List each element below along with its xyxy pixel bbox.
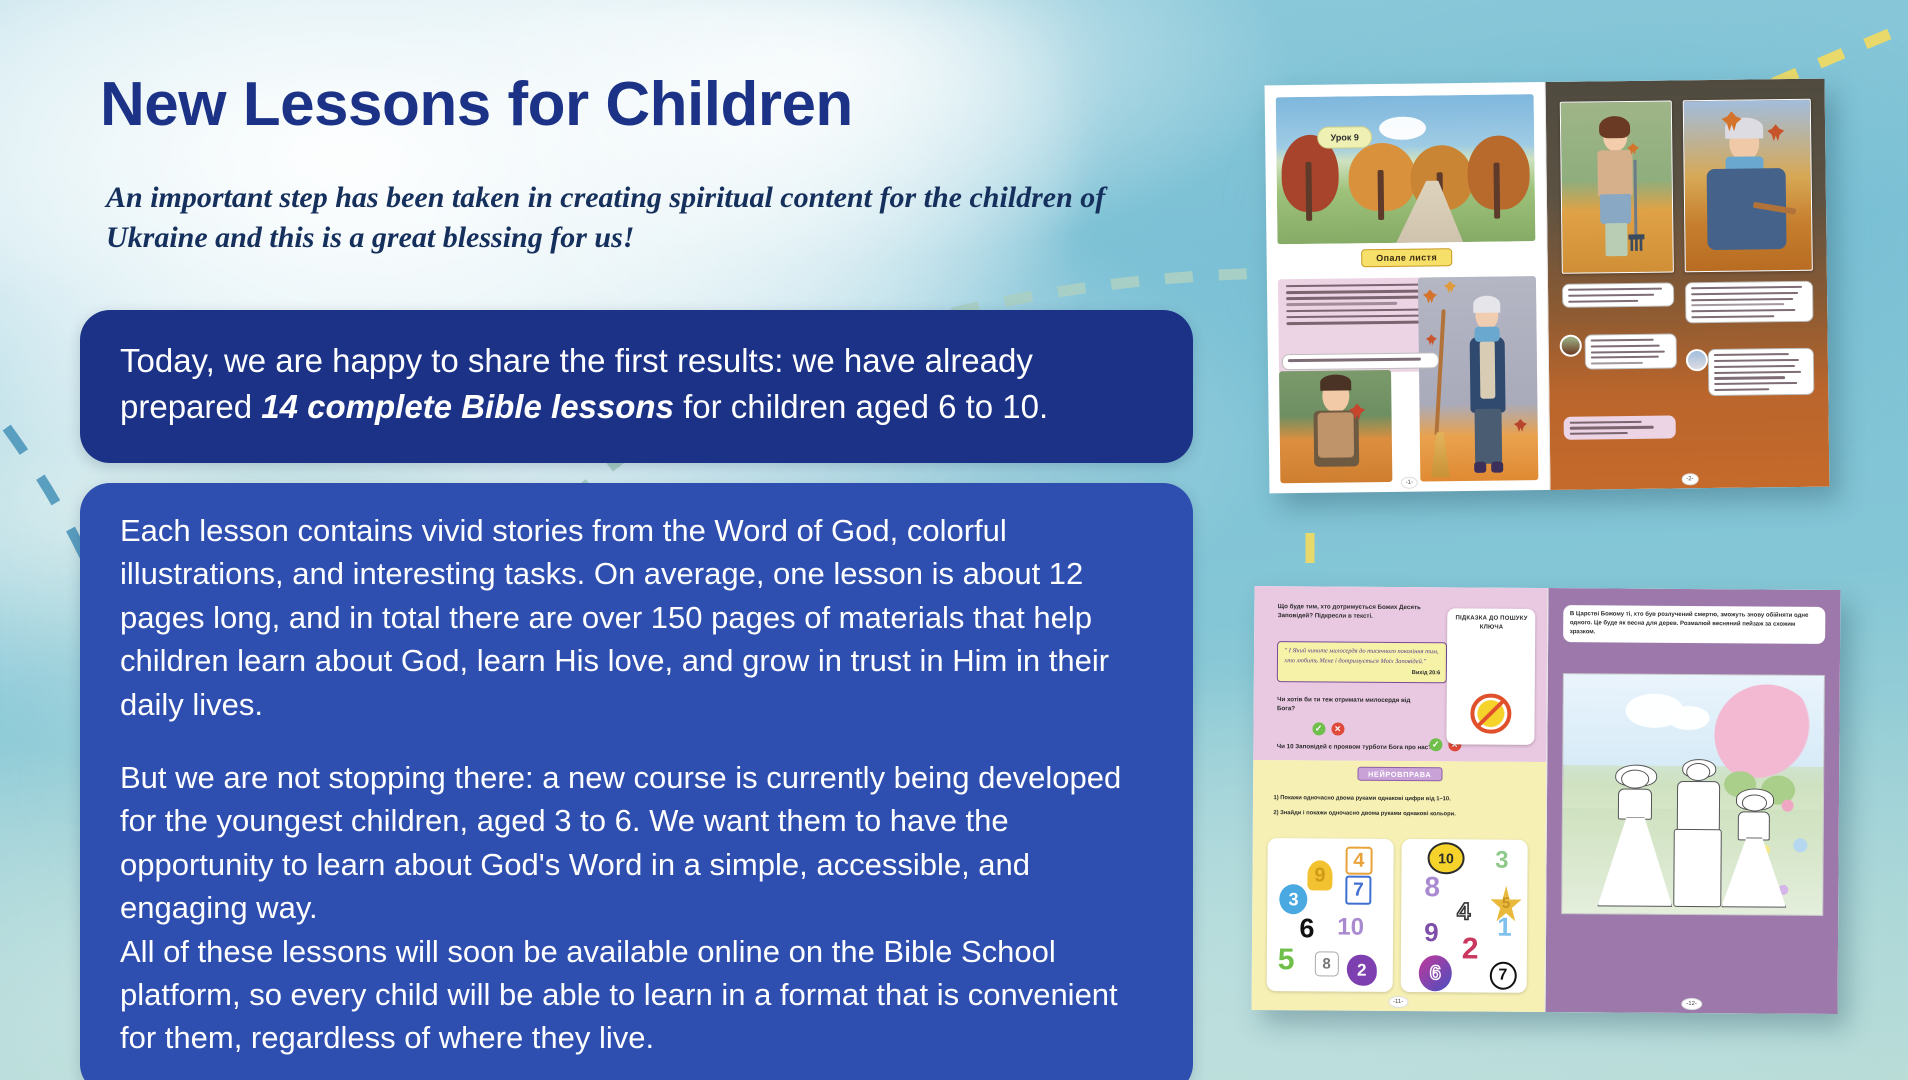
figure-daughter: [1718, 789, 1790, 908]
number-card-right[interactable]: 10385419267: [1401, 839, 1528, 993]
bible-verse-box: " І Який чините милосердя до тисячного п…: [1277, 641, 1447, 683]
spread-top-left-page: Урок 9 Опале листя: [1265, 82, 1550, 493]
number-left-3[interactable]: 3: [1279, 884, 1307, 914]
bible-verse-reference: Вихід 20:6: [1284, 669, 1440, 676]
broom-bristles: [1431, 432, 1450, 477]
number-right-3[interactable]: 3: [1495, 849, 1509, 873]
number-card-left[interactable]: 4973610582: [1266, 838, 1393, 992]
question-mercy: Чи хотів би ти теж отримати милосердя ві…: [1277, 696, 1412, 715]
number-left-8[interactable]: 8: [1314, 952, 1339, 977]
callout-primary-emphasis: 14 complete Bible lessons: [261, 388, 674, 425]
number-left-10[interactable]: 10: [1337, 915, 1364, 939]
page-title: New Lessons for Children: [100, 72, 853, 137]
number-right-6[interactable]: 6: [1419, 955, 1452, 991]
cross-icon[interactable]: [1331, 722, 1344, 735]
callout-paragraph-new-course: But we are not stopping there: a new cou…: [120, 756, 1153, 930]
number-left-2[interactable]: 2: [1347, 955, 1377, 986]
coloring-instruction-caption: В Царстві Божому ті, хто був розлучений …: [1563, 605, 1826, 644]
neuro-instruction-1: 1) Покажи одночасно двома руками однаков…: [1273, 794, 1450, 805]
question-care: Чи 10 Заповідей є проявом турботи Бога п…: [1277, 743, 1435, 753]
number-right-9[interactable]: 9: [1424, 919, 1439, 945]
callout-paragraph-lesson-contents: Each lesson contains vivid stories from …: [120, 509, 1153, 726]
number-right-8[interactable]: 8: [1424, 873, 1440, 901]
book-spread-activities[interactable]: Що буде тим, хто дотримується Божих Деся…: [1252, 586, 1841, 1014]
number-left-9[interactable]: 9: [1307, 860, 1332, 890]
speech-bubble-grandfather-1: [1685, 281, 1814, 324]
speech-bubble-girl-1: [1562, 282, 1674, 307]
number-left-7[interactable]: 7: [1345, 875, 1372, 904]
avatar-grandfather: [1685, 349, 1707, 371]
book-spread-lesson-9[interactable]: Урок 9 Опале листя: [1265, 79, 1830, 494]
comic-panel-grandfather: [1682, 99, 1812, 272]
grandfather-figure: [1463, 301, 1512, 473]
speech-bubble-girl-2: [1585, 333, 1677, 369]
autumn-park-illustration: Урок 9: [1276, 94, 1535, 244]
callout-primary-text-after: for children aged 6 to 10.: [674, 388, 1048, 425]
callout-paragraph-online-platform: All of these lessons will soon be availa…: [120, 930, 1153, 1060]
answer-row-mercy[interactable]: [1312, 722, 1344, 735]
caption-grandchildren: [1564, 415, 1676, 440]
speech-bubble-grandfather-2: [1708, 348, 1815, 396]
page-number-1: -1-: [1401, 477, 1418, 489]
hint-card-key-search: ПІДКАЗКА ДО ПОШУКУ КЛЮЧА: [1447, 608, 1536, 744]
lesson-number-badge: Урок 9: [1317, 126, 1372, 149]
number-right-4[interactable]: 4: [1457, 901, 1471, 925]
page-subtitle: An important step has been taken in crea…: [106, 178, 1116, 258]
figure-mother: [1597, 764, 1673, 907]
spread-bottom-left-page: Що буде тим, хто дотримується Божих Деся…: [1252, 586, 1548, 1012]
callout-primary-text: Today, we are happy to share the first r…: [120, 338, 1153, 429]
comic-panel-girl: [1560, 101, 1674, 274]
check-icon[interactable]: [1312, 722, 1325, 735]
main-content-column: New Lessons for Children An important st…: [0, 0, 1215, 1080]
number-right-1[interactable]: 1: [1497, 913, 1512, 939]
grandfather-illustration: [1418, 276, 1538, 481]
boy-illustration: [1279, 370, 1392, 484]
number-right-7[interactable]: 7: [1489, 962, 1516, 990]
spread-bottom-right-page: В Царстві Божому ті, хто був розлучений …: [1545, 588, 1841, 1014]
number-left-4[interactable]: 4: [1345, 846, 1372, 874]
spring-landscape-coloring-page: [1561, 673, 1825, 917]
number-left-5[interactable]: 5: [1278, 945, 1295, 975]
number-left-6[interactable]: 6: [1299, 915, 1314, 942]
book-spread-gallery: Урок 9 Опале листя: [1215, 0, 1908, 1080]
family-figures-lineart: [1593, 758, 1803, 908]
hint-card-title: ПІДКАЗКА ДО ПОШУКУ КЛЮЧА: [1448, 614, 1536, 631]
neuro-instruction-2: 2) Знайди і покажи одночасно двома рукам…: [1273, 809, 1455, 820]
page-number-12: -12-: [1681, 998, 1702, 1010]
broom-handle: [1434, 310, 1445, 436]
speech-bubble-boy: [1282, 353, 1439, 371]
callout-primary-results: Today, we are happy to share the first r…: [80, 310, 1193, 463]
callout-secondary-details: Each lesson contains vivid stories from …: [80, 483, 1193, 1080]
question-commandments: Що буде тим, хто дотримується Божих Деся…: [1278, 603, 1442, 622]
no-sunburst-icon: [1471, 693, 1512, 734]
check-icon[interactable]: [1429, 738, 1442, 751]
number-right-10[interactable]: 10: [1427, 842, 1465, 874]
number-right-2[interactable]: 2: [1462, 934, 1479, 964]
neuro-exercise-title: НЕЙРОВПРАВА: [1357, 767, 1442, 782]
spread-top-right-page: -2-: [1545, 79, 1830, 490]
bible-verse-text: " І Який чините милосердя до тисячного п…: [1284, 646, 1440, 668]
lesson-title-banner: Опале листя: [1361, 248, 1452, 267]
